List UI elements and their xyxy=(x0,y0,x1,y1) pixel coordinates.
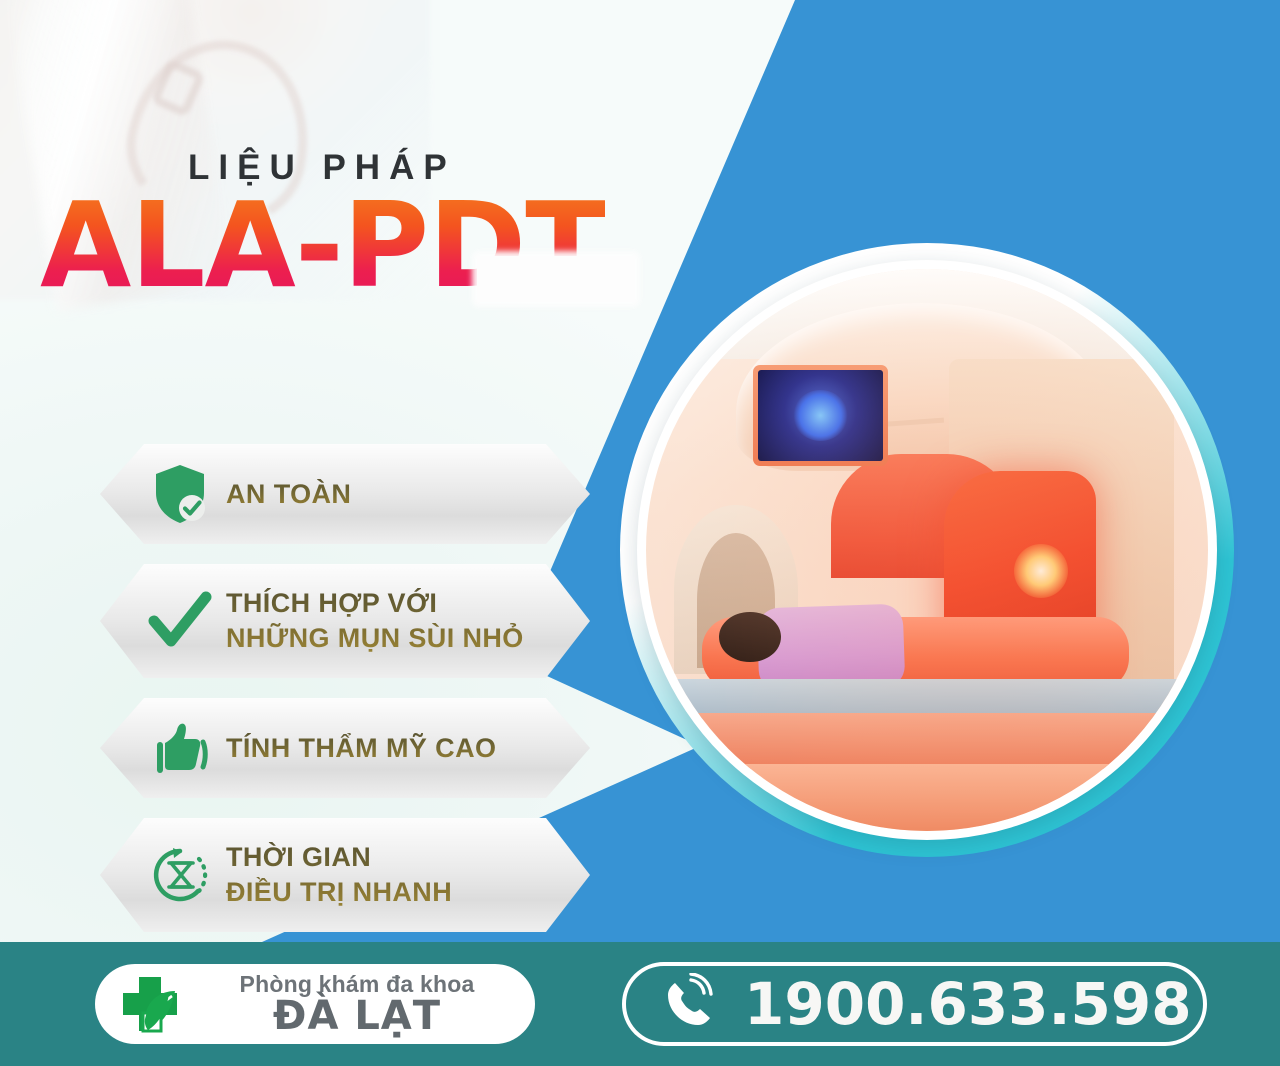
hotline-number: 1900.633.598 xyxy=(744,970,1192,1038)
photo-color-wash xyxy=(646,269,1208,831)
feature-item-an-toan[interactable]: AN TOÀN xyxy=(100,444,590,544)
feature-item-tham-my[interactable]: TÍNH THẨM MỸ CAO xyxy=(100,698,590,798)
feature-label: THỜI GIAN ĐIỀU TRỊ NHANH xyxy=(226,840,452,909)
check-mark-icon xyxy=(134,591,226,651)
fast-time-hourglass-icon xyxy=(134,844,226,906)
treatment-photo-ring xyxy=(620,243,1234,857)
feature-item-thoi-gian[interactable]: THỜI GIAN ĐIỀU TRỊ NHANH xyxy=(100,818,590,932)
clinic-name-block: Phòng khám đa khoa ĐÀ LẠT xyxy=(197,972,535,1037)
feature-label: TÍNH THẨM MỸ CAO xyxy=(226,731,496,766)
medical-cross-leaf-icon xyxy=(117,973,183,1035)
treatment-photo-white-ring xyxy=(637,260,1217,840)
feature-label: THÍCH HỢP VỚI NHỮNG MỤN SÙI NHỎ xyxy=(226,586,524,655)
clinic-logo-pill[interactable]: Phòng khám đa khoa ĐÀ LẠT xyxy=(95,964,535,1044)
hotline-button[interactable]: 1900.633.598 xyxy=(622,962,1207,1046)
clinic-name: ĐÀ LẠT xyxy=(273,996,441,1037)
shield-check-icon xyxy=(134,463,226,525)
feature-list: AN TOÀN THÍCH HỢP VỚI NHỮNG MỤN SÙI NHỎ … xyxy=(100,444,600,952)
footer-bar: Phòng khám đa khoa ĐÀ LẠT 1900.633.598 xyxy=(0,942,1280,1066)
feature-label: AN TOÀN xyxy=(226,477,351,512)
title-blank-block xyxy=(477,256,635,302)
poster-canvas: LIỆU PHÁP ALA-PDT AN TOÀN THÍCH HỢP VỚI … xyxy=(0,0,1280,1066)
thumbs-up-icon xyxy=(134,719,226,777)
feature-item-thich-hop[interactable]: THÍCH HỢP VỚI NHỮNG MỤN SÙI NHỎ xyxy=(100,564,590,678)
phone-ringing-icon xyxy=(658,973,720,1035)
treatment-photo xyxy=(646,269,1208,831)
